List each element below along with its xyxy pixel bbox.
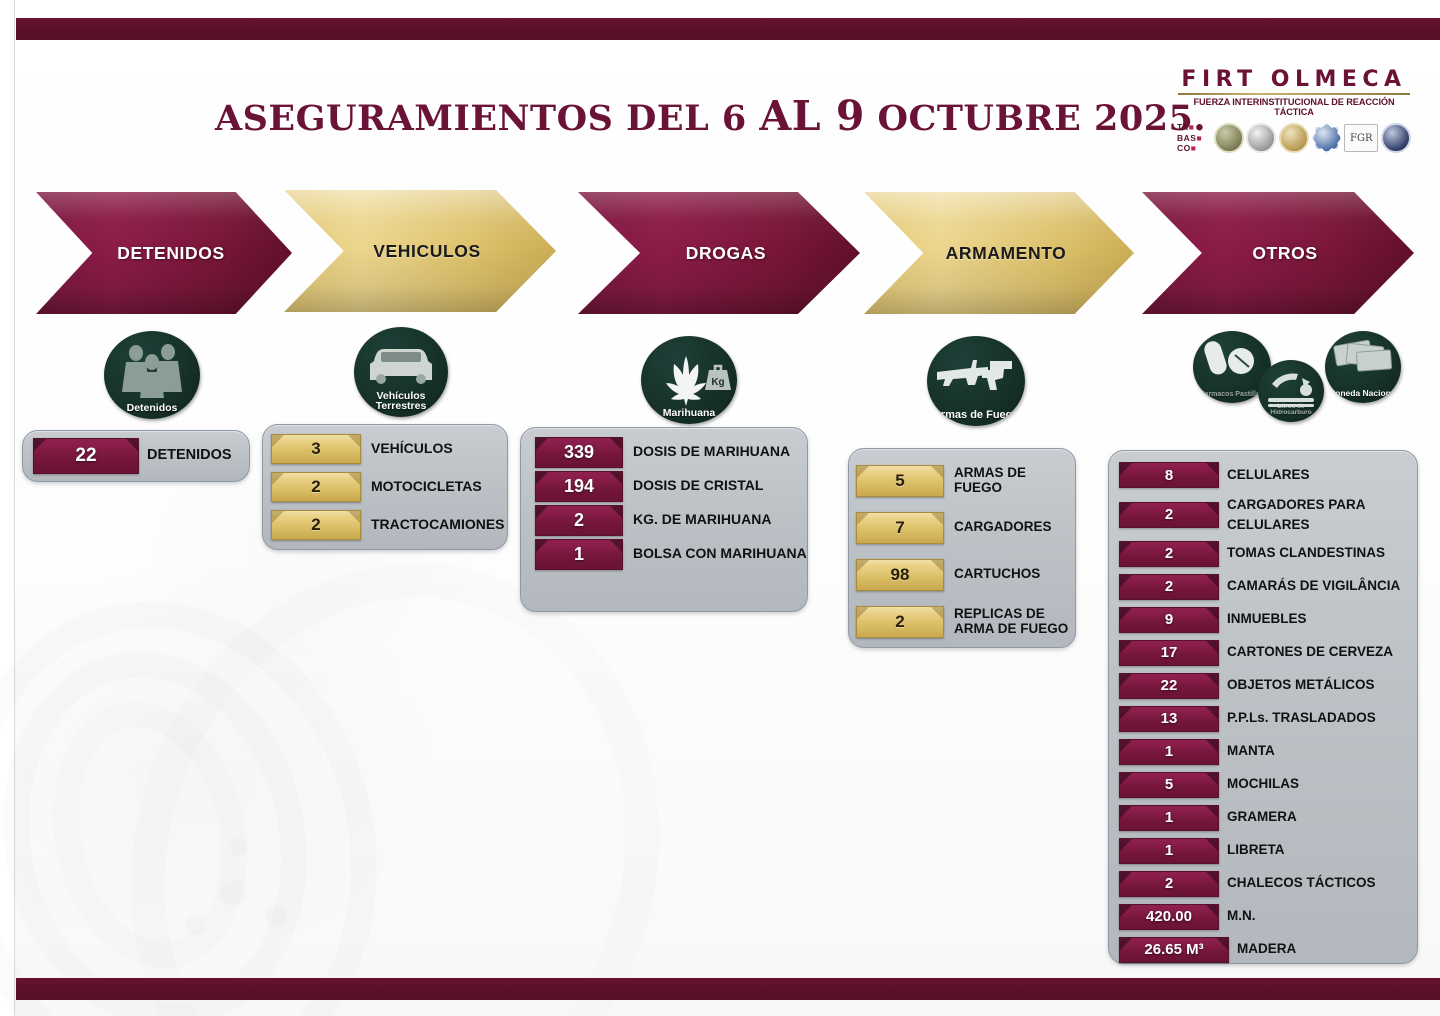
item-label: P.P.Ls. TRASLADADOS	[1227, 711, 1376, 726]
item-label: MANTA	[1227, 744, 1275, 759]
item-label: LIBRETA	[1227, 843, 1285, 858]
page-title-part-2: AL 9	[759, 92, 864, 140]
fgr-label: FGR	[1350, 133, 1372, 144]
value-plate: 2	[1119, 541, 1219, 567]
item-label: MOTOCICLETAS	[371, 479, 482, 494]
panel-detenidos: 22 DETENIDOS	[22, 430, 250, 482]
page-title: ASEGURAMIENTOS DEL 6 AL 9 OCTUBRE 2025.	[215, 92, 1135, 140]
value-text: 26.65 M³	[1144, 941, 1203, 958]
top-accent-bar	[16, 18, 1440, 40]
value-text: 194	[564, 476, 594, 497]
value-text: 2	[311, 515, 320, 535]
value-text: 2	[1165, 875, 1173, 892]
panel-drogas: 339 DOSIS DE MARIHUANA 194 DOSIS DE CRIS…	[520, 427, 808, 612]
item-label: M.N.	[1227, 909, 1256, 924]
item-label: OBJETOS METÁLICOS	[1227, 678, 1375, 693]
list-item: 8 CELULARES	[1119, 458, 1417, 492]
item-label: VEHÍCULOS	[371, 441, 453, 456]
value-plate: 2	[535, 505, 623, 536]
firearms-caption: Armas de Fuego	[933, 410, 1019, 426]
list-item: 2 REPLICAS DE ARMA DE FUEGO	[856, 598, 1075, 645]
value-text: 2	[895, 612, 904, 632]
value-plate: 7	[856, 512, 944, 544]
value-text: 2	[1165, 578, 1173, 595]
value-text: 5	[895, 471, 904, 491]
guardia-nacional-emblem-icon	[1279, 123, 1309, 153]
item-label: BOLSA CON MARIHUANA	[633, 546, 807, 561]
list-item: 2 MOTOCICLETAS	[271, 468, 507, 506]
agency-emblems-row: TA■ BAS■ CO■ FGR	[1176, 122, 1412, 154]
chevron-drogas-label: DROGAS	[686, 243, 766, 264]
value-text: 8	[1165, 467, 1173, 484]
chevron-armamento-label: ARMAMENTO	[946, 243, 1067, 264]
item-label: REPLICAS DE ARMA DE FUEGO	[954, 607, 1072, 636]
fgr-emblem-icon: FGR	[1344, 124, 1378, 152]
page-title-part-1: ASEGURAMIENTOS DEL 6	[215, 98, 759, 139]
item-label: GRAMERA	[1227, 810, 1297, 825]
item-label: ARMAS DE FUEGO	[954, 466, 1075, 495]
value-text: 1	[574, 544, 584, 565]
list-item: 339 DOSIS DE MARIHUANA	[535, 435, 807, 469]
value-text: 98	[891, 565, 910, 585]
list-item: 1 LIBRETA	[1119, 834, 1417, 867]
semar-emblem-icon	[1246, 123, 1276, 153]
svg-text:Kg: Kg	[711, 377, 724, 388]
policia-estatal-emblem-icon	[1312, 123, 1342, 153]
value-plate: 1	[1119, 838, 1219, 864]
list-item: 2 CARGADORES PARA CELULARES	[1119, 492, 1417, 537]
value-text: 2	[1165, 506, 1173, 523]
value-plate: 2	[1119, 502, 1219, 528]
value-text: 3	[311, 439, 320, 459]
item-label: CARGADORES PARA CELULARES	[1227, 495, 1395, 534]
firearms-icon: Armas de Fuego	[927, 336, 1025, 426]
value-plate: 5	[856, 465, 944, 497]
bottom-accent-bar	[16, 978, 1440, 1000]
value-text: 5	[1165, 776, 1173, 793]
value-plate: 1	[1119, 805, 1219, 831]
page-title-part-3: OCTUBRE 2025.	[865, 98, 1206, 139]
list-item: 3 VEHÍCULOS	[271, 430, 507, 468]
list-item: 2 CHALECOS TÁCTICOS	[1119, 867, 1417, 900]
value-text: 13	[1161, 710, 1178, 727]
value-plate: 2	[1119, 871, 1219, 897]
value-text: 1	[1165, 809, 1173, 826]
value-plate: 26.65 M³	[1119, 937, 1229, 963]
panel-vehiculos: 3 VEHÍCULOS 2 MOTOCICLETAS 2 TRACTOCAMIO…	[262, 424, 508, 550]
value-plate: 5	[1119, 772, 1219, 798]
item-label: TOMAS CLANDESTINAS	[1227, 546, 1385, 561]
value-plate: 2	[271, 510, 361, 540]
list-item: 22 DETENIDOS	[33, 438, 249, 474]
list-item: 26.65 M³ MADERA	[1119, 933, 1417, 966]
national-currency-icon: Moneda Nacional	[1325, 331, 1401, 403]
ground-vehicle-caption: Vehículos Terrestres	[354, 391, 448, 417]
watermark-dot	[230, 838, 248, 856]
item-label: CAMARÁS DE VIGILÂNCIA	[1227, 579, 1400, 594]
firt-olmeca-logo: FIRT OLMECA FUERZA INTERINSTITUCIONAL DE…	[1176, 68, 1412, 168]
hydrocarbon-liters-icon: Litros de Hidrocarburo	[1258, 360, 1324, 422]
value-text: 7	[895, 518, 904, 538]
detainees-caption: Detenidos	[127, 403, 178, 419]
list-item: 5 ARMAS DE FUEGO	[856, 457, 1075, 504]
item-label: CHALECOS TÁCTICOS	[1227, 876, 1376, 891]
watermark-dot	[220, 880, 246, 906]
value-text: 9	[1165, 611, 1173, 628]
item-label: DOSIS DE MARIHUANA	[633, 444, 790, 459]
list-item: 1 GRAMERA	[1119, 801, 1417, 834]
item-label: INMUEBLES	[1227, 612, 1307, 627]
value-plate: 1	[535, 539, 623, 570]
value-text: 2	[574, 510, 584, 531]
value-text: 22	[1161, 677, 1178, 694]
item-label: DOSIS DE CRISTAL	[633, 478, 763, 493]
value-text: 1	[1165, 842, 1173, 859]
value-plate: 420.00	[1119, 904, 1219, 930]
value-plate: 98	[856, 559, 944, 591]
list-item: 5 MOCHILAS	[1119, 768, 1417, 801]
list-item: 2 CAMARÁS DE VIGILÂNCIA	[1119, 570, 1417, 603]
item-label: MOCHILAS	[1227, 777, 1299, 792]
value-text: 17	[1161, 644, 1178, 661]
value-plate: 2	[271, 472, 361, 502]
item-label: CELULARES	[1227, 468, 1310, 483]
value-text: 1	[1165, 743, 1173, 760]
list-item: 9 INMUEBLES	[1119, 603, 1417, 636]
tabasco-line-2: BAS	[1177, 133, 1196, 143]
list-item: 420.00 M.N.	[1119, 900, 1417, 933]
national-currency-caption: Moneda Nacional	[1328, 389, 1398, 403]
list-item: 2 TRACTOCAMIONES	[271, 506, 507, 544]
watermark-dot	[185, 915, 205, 935]
list-item: 98 CARTUCHOS	[856, 551, 1075, 598]
list-item: 13 P.P.Ls. TRASLADADOS	[1119, 702, 1417, 735]
value-plate: 8	[1119, 462, 1219, 488]
item-label: CARGADORES	[954, 520, 1052, 535]
item-label: MADERA	[1237, 942, 1296, 957]
ground-vehicle-icon: Vehículos Terrestres	[354, 327, 448, 417]
sedena-emblem-icon	[1214, 123, 1244, 153]
panel-otros: 8 CELULARES 2 CARGADORES PARA CELULARES …	[1108, 450, 1418, 964]
tabasco-line-1: TA	[1177, 122, 1189, 132]
tabasco-line-3: CO	[1177, 143, 1191, 153]
chevron-detenidos-label: DETENIDOS	[117, 243, 225, 264]
value-plate: 3	[271, 434, 361, 464]
item-label: CARTONES DE CERVEZA	[1227, 645, 1393, 660]
value-plate: 13	[1119, 706, 1219, 732]
value-plate: 17	[1119, 640, 1219, 666]
value-plate: 2	[856, 606, 944, 638]
value-plate: 2	[1119, 574, 1219, 600]
value-plate: 9	[1119, 607, 1219, 633]
value-text: 339	[564, 442, 594, 463]
value-plate: 339	[535, 437, 623, 468]
hydrocarbon-liters-caption: Litros de Hidrocarburo	[1258, 404, 1324, 422]
logo-divider	[1178, 93, 1410, 95]
item-label: CARTUCHOS	[954, 567, 1040, 582]
watermark-dot	[265, 905, 287, 927]
list-item: 1 MANTA	[1119, 735, 1417, 768]
value-plate: 22	[33, 438, 139, 474]
logo-title: FIRT OLMECA	[1176, 68, 1412, 92]
infographic-root: ASEGURAMIENTOS DEL 6 AL 9 OCTUBRE 2025. …	[0, 0, 1440, 1016]
item-label: DETENIDOS	[147, 448, 232, 464]
value-text: 420.00	[1146, 908, 1192, 925]
value-plate: 194	[535, 471, 623, 502]
detainees-icon: Detenidos	[104, 331, 200, 419]
item-label: TRACTOCAMIONES	[371, 517, 505, 532]
list-item: 194 DOSIS DE CRISTAL	[535, 469, 807, 503]
marijuana-caption: Marihuana	[663, 408, 716, 424]
list-item: 2 KG. DE MARIHUANA	[535, 503, 807, 537]
list-item: 22 OBJETOS METÁLICOS	[1119, 669, 1417, 702]
tabasco-wordmark-icon: TA■ BAS■ CO■	[1177, 122, 1211, 154]
item-label: KG. DE MARIHUANA	[633, 512, 771, 527]
value-text: 22	[75, 445, 96, 467]
panel-armamento: 5 ARMAS DE FUEGO 7 CARGADORES 98 CARTUCH…	[848, 448, 1076, 648]
value-plate: 22	[1119, 673, 1219, 699]
list-item: 2 TOMAS CLANDESTINAS	[1119, 537, 1417, 570]
chevron-vehiculos-label: VEHICULOS	[373, 241, 481, 262]
chevron-otros-label: OTROS	[1252, 243, 1317, 264]
list-item: 1 BOLSA CON MARIHUANA	[535, 537, 807, 571]
pills-caption: Farmacos Pastillas	[1200, 391, 1263, 403]
value-text: 2	[1165, 545, 1173, 562]
list-item: 7 CARGADORES	[856, 504, 1075, 551]
list-item: 17 CARTONES DE CERVEZA	[1119, 636, 1417, 669]
value-plate: 1	[1119, 739, 1219, 765]
marijuana-icon: Kg Marihuana	[641, 336, 737, 424]
fiscalia-estatal-emblem-icon	[1381, 123, 1411, 153]
logo-subtitle: FUERZA INTERINSTITUCIONAL DE REACCIÓN TÁ…	[1176, 97, 1412, 117]
value-text: 2	[311, 477, 320, 497]
